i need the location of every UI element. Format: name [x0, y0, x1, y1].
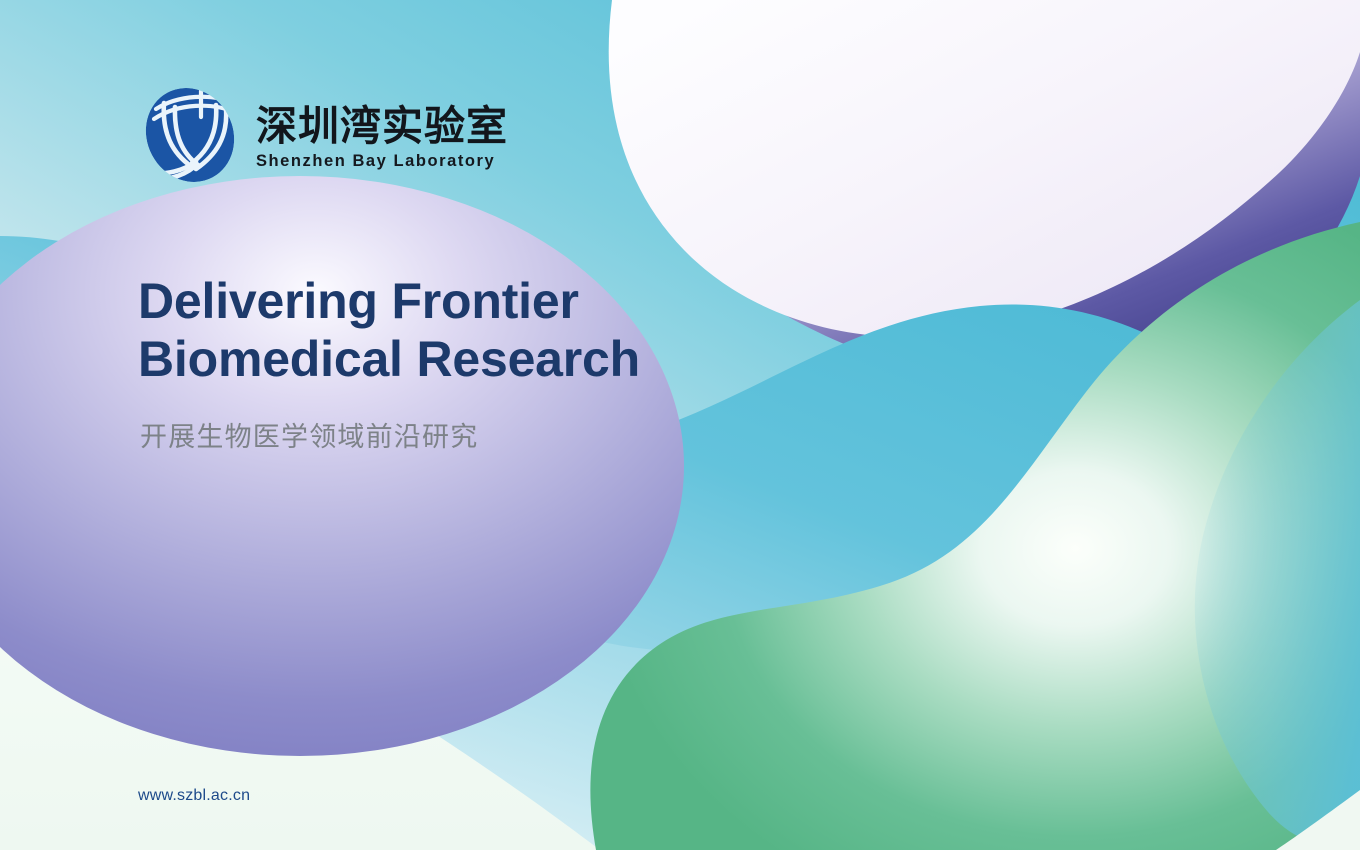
page-title-line-2: Biomedical Research — [138, 330, 758, 388]
title-slide: 深圳湾实验室 Shenzhen Bay Laboratory Deliverin… — [0, 0, 1360, 850]
logo-name-en: Shenzhen Bay Laboratory — [256, 152, 508, 170]
shenzhen-bay-laboratory-logo-mark-icon — [138, 83, 242, 187]
brand-logo: 深圳湾实验室 Shenzhen Bay Laboratory — [138, 83, 508, 187]
page-subtitle-cn: 开展生物医学领域前沿研究 — [140, 415, 478, 454]
logo-name-cn: 深圳湾实验室 — [256, 104, 508, 148]
page-title: Delivering Frontier Biomedical Research — [138, 272, 758, 388]
logo-wordmark: 深圳湾实验室 Shenzhen Bay Laboratory — [256, 100, 508, 169]
website-url[interactable]: www.szbl.ac.cn — [138, 787, 250, 805]
page-title-line-1: Delivering Frontier — [138, 272, 758, 330]
